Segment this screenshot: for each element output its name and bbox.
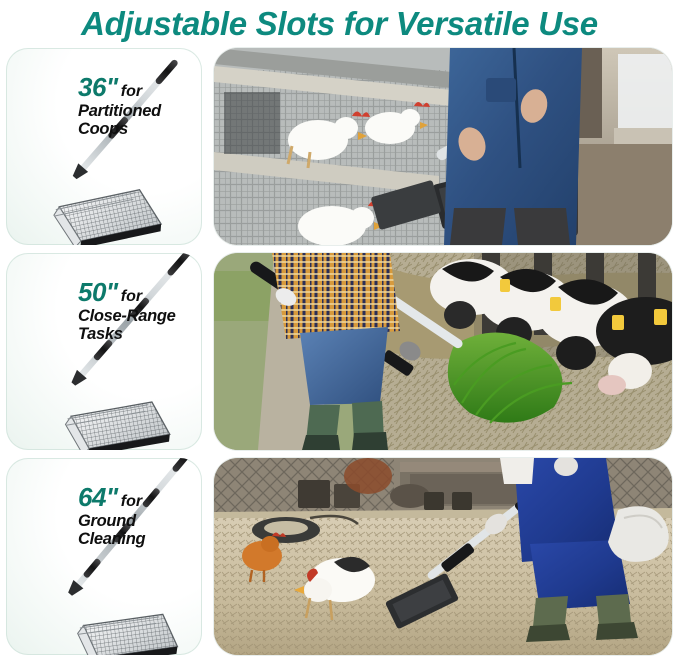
feature-photo — [214, 48, 672, 245]
feature-photo — [214, 253, 672, 450]
farmyard-photo — [214, 458, 672, 655]
spec-card: 64"for Ground Cleaning — [6, 458, 202, 655]
spec-text-block: 50"for Close-Range Tasks — [78, 279, 194, 344]
feature-row: 36"for Partitioned Coops — [0, 48, 679, 248]
feature-photo — [214, 458, 672, 655]
spec-size: 64" — [78, 482, 118, 512]
page-title: Adjustable Slots for Versatile Use — [81, 7, 598, 40]
chicken-coop-photo — [214, 48, 672, 245]
spec-card: 36"for Partitioned Coops — [6, 48, 202, 245]
feature-row: 50"for Close-Range Tasks — [0, 253, 679, 453]
spec-text-block: 64"for Ground Cleaning — [78, 484, 194, 549]
spec-size-line: 36"for — [78, 74, 194, 102]
spec-size: 36" — [78, 72, 118, 102]
spec-description-line-1: Partitioned — [78, 103, 194, 120]
spec-description-line-2: Cleaning — [78, 531, 194, 548]
spec-size-line: 50"for — [78, 279, 194, 307]
spec-for-label: for — [121, 288, 142, 305]
feature-row: 64"for Ground Cleaning — [0, 458, 679, 658]
feature-rows: 36"for Partitioned Coops — [0, 46, 679, 661]
page-title-bar: Adjustable Slots for Versatile Use — [0, 0, 679, 46]
spec-description-line-1: Ground — [78, 513, 194, 530]
dairy-barn-photo — [214, 253, 672, 450]
spec-description-line-2: Coops — [78, 121, 194, 138]
spec-description-line-1: Close-Range — [78, 308, 194, 325]
spec-size: 50" — [78, 277, 118, 307]
spec-text-block: 36"for Partitioned Coops — [78, 74, 194, 139]
spec-for-label: for — [121, 493, 142, 510]
spec-size-line: 64"for — [78, 484, 194, 512]
spec-card: 50"for Close-Range Tasks — [6, 253, 202, 450]
spec-for-label: for — [121, 83, 142, 100]
spec-description-line-2: Tasks — [78, 326, 194, 343]
